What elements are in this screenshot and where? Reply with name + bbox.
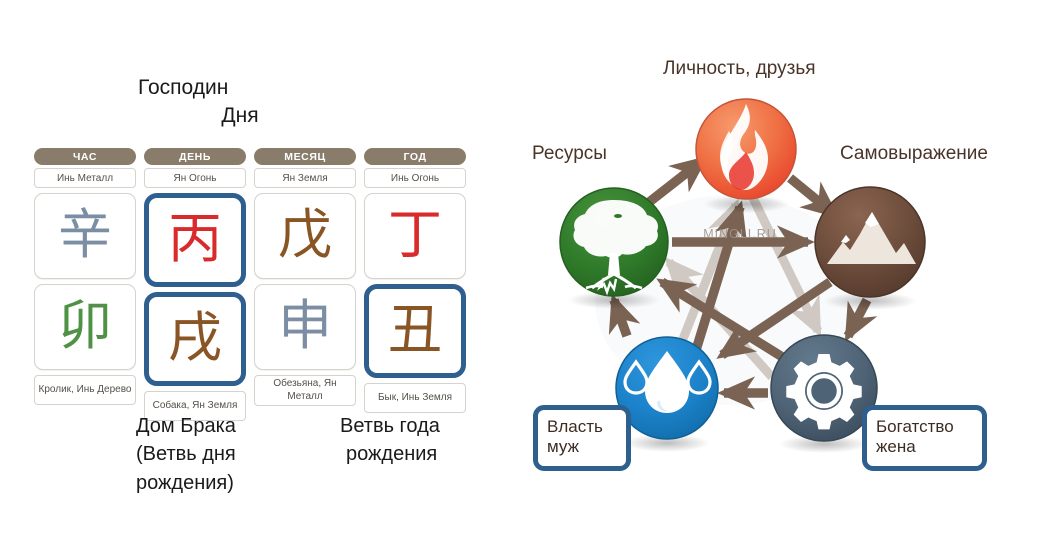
day-master-line2: Дня	[120, 102, 360, 130]
marriage-line2: (Ветвь дня	[136, 443, 236, 465]
stem-cell-year[interactable]: 丁	[364, 193, 466, 279]
branch-glyph-month: 申	[278, 299, 332, 353]
year-branch-annotation: Ветвь года рождения	[340, 412, 500, 469]
page-root: Господин Дня ЧАС Инь Металл 辛 卯 Кролик, …	[0, 0, 1039, 549]
branch-element-month: Обезьяна, Ян Металл	[254, 375, 356, 406]
year-branch-line1: Ветвь года	[340, 415, 440, 437]
element-node-earth[interactable]	[815, 187, 925, 297]
stem-glyph-year: 丁	[388, 208, 442, 262]
branch-cell-day[interactable]: 戌	[144, 292, 246, 386]
stem-glyph-day: 丙	[168, 212, 222, 266]
callout-power-line1: Власть	[547, 417, 603, 436]
bazi-chart-panel: Господин Дня ЧАС Инь Металл 辛 卯 Кролик, …	[0, 0, 500, 549]
pillar-month: МЕСЯЦ Ян Земля 戊 申 Обезьяна, Ян Металл	[254, 148, 356, 421]
callout-wealth-line1: Богатство	[876, 417, 954, 436]
stem-glyph-month: 戊	[278, 208, 332, 262]
gear-icon	[786, 354, 861, 429]
branch-glyph-year: 丑	[388, 303, 442, 357]
callout-power-line2: муж	[547, 437, 617, 457]
day-master-line1: Господин	[120, 74, 360, 102]
branch-cell-year[interactable]: 丑	[364, 284, 466, 378]
pillar-hour: ЧАС Инь Металл 辛 卯 Кролик, Инь Дерево	[34, 148, 136, 421]
callout-power[interactable]: Власть муж	[533, 405, 631, 471]
element-node-water[interactable]	[616, 337, 718, 439]
callout-wealth[interactable]: Богатство жена	[862, 405, 987, 471]
watermark-text: MINGLI.RU	[703, 227, 777, 241]
pillar-day: ДЕНЬ Ян Огонь 丙 戌 Собака, Ян Земля	[144, 148, 246, 421]
stem-element-month: Ян Земля	[254, 168, 356, 188]
pillar-year: ГОД Инь Огонь 丁 丑 Бык, Инь Земля	[364, 148, 466, 421]
element-node-wood[interactable]	[560, 188, 668, 296]
pillar-header-hour: ЧАС	[34, 148, 136, 165]
pillars-table: ЧАС Инь Металл 辛 卯 Кролик, Инь Дерево ДЕ…	[34, 148, 466, 421]
stem-cell-day[interactable]: 丙	[144, 193, 246, 287]
branch-cell-hour[interactable]: 卯	[34, 284, 136, 370]
callout-wealth-line2: жена	[876, 437, 973, 457]
marriage-line3: рождения)	[136, 472, 234, 494]
pillar-header-year: ГОД	[364, 148, 466, 165]
label-self-expression: Самовыражение	[840, 143, 988, 165]
label-personality: Личность, друзья	[663, 58, 816, 80]
arrow-wood-to-fire	[648, 160, 703, 203]
pillar-header-month: МЕСЯЦ	[254, 148, 356, 165]
stem-element-day: Ян Огонь	[144, 168, 246, 188]
branch-element-year: Бык, Инь Земля	[364, 383, 466, 413]
five-elements-panel: MINGLI.RU	[500, 0, 1039, 549]
marriage-line1: Дом Брака	[136, 415, 236, 437]
branch-glyph-hour: 卯	[58, 299, 112, 353]
stem-glyph-hour: 辛	[58, 208, 112, 262]
stem-cell-month[interactable]: 戊	[254, 193, 356, 279]
element-node-fire[interactable]	[696, 99, 796, 199]
branch-glyph-day: 戌	[168, 311, 222, 365]
stem-element-year: Инь Огонь	[364, 168, 466, 188]
day-master-annotation: Господин Дня	[120, 74, 360, 131]
pillar-header-day: ДЕНЬ	[144, 148, 246, 165]
marriage-house-annotation: Дом Брака (Ветвь дня рождения)	[136, 412, 306, 497]
branch-element-hour: Кролик, Инь Дерево	[34, 375, 136, 405]
year-branch-line2: рождения	[340, 440, 500, 468]
stem-element-hour: Инь Металл	[34, 168, 136, 188]
branch-cell-month[interactable]: 申	[254, 284, 356, 370]
label-resources: Ресурсы	[532, 143, 607, 165]
stem-cell-hour[interactable]: 辛	[34, 193, 136, 279]
